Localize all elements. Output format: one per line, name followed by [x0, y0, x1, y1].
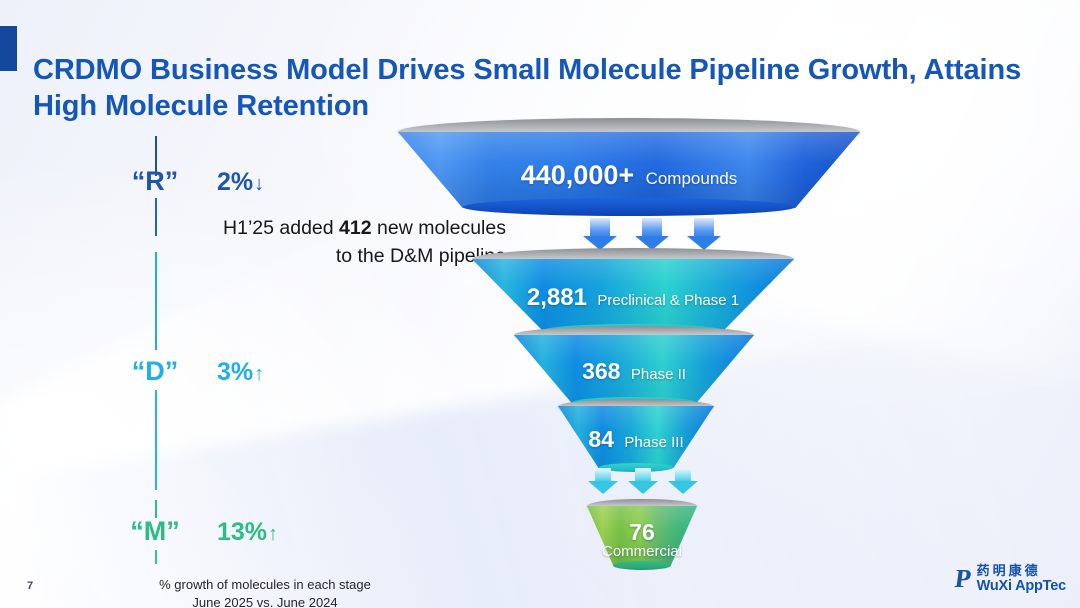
footnote-line2: June 2025 vs. June 2024 [90, 594, 440, 608]
arrow-down-icon [588, 468, 618, 494]
funnel-tier-5-base [613, 561, 670, 570]
page-number: 7 [27, 580, 33, 592]
wuxi-apptec-logo: P 药明康德 WuXi AppTec [955, 565, 1066, 594]
funnel-tier-phase2: 368 Phase II [514, 326, 754, 402]
slide-canvas: CRDMO Business Model Drives Small Molecu… [0, 0, 1080, 608]
funnel-tier-5-value-row: 76 [587, 519, 697, 546]
logo-english-name: WuXi AppTec [977, 579, 1066, 594]
funnel-tier-1-base [463, 198, 796, 216]
funnel-tier-5-caption: Commercial [602, 543, 682, 560]
funnel-tier-5-caption-row: Commercial [587, 543, 697, 561]
logo-mark-icon: P [953, 566, 973, 592]
funnel-tier-3-caption: Phase II [631, 366, 686, 383]
funnel-chart: 440,000+ Compounds [0, 0, 1080, 608]
funnel-tier-4-caption: Phase III [624, 434, 683, 451]
funnel-tier-1-value: 440,000+ [521, 160, 634, 190]
funnel-tier-2-label: 2,881 Preclinical & Phase 1 [472, 284, 794, 312]
arrow-down-icon [687, 218, 721, 250]
funnel-tier-compounds: 440,000+ Compounds [398, 118, 860, 208]
arrow-down-icon [628, 468, 658, 494]
funnel-tier-3-value: 368 [582, 358, 620, 384]
funnel-arrows-cyan [583, 468, 703, 494]
arrow-down-icon [583, 218, 617, 250]
funnel-tier-1-label: 440,000+ Compounds [398, 160, 860, 191]
logo-chinese-name: 药明康德 [977, 565, 1066, 579]
funnel-tier-3-label: 368 Phase II [514, 358, 754, 385]
logo-names: 药明康德 WuXi AppTec [977, 565, 1066, 594]
funnel-tier-4-label: 84 Phase III [558, 426, 714, 453]
arrow-down-icon [635, 218, 669, 250]
funnel-tier-phase3: 84 Phase III [558, 399, 714, 469]
funnel-tier-preclinical: 2,881 Preclinical & Phase 1 [472, 248, 794, 330]
footnote-line1: % growth of molecules in each stage [90, 576, 440, 594]
funnel-tier-2-caption: Preclinical & Phase 1 [597, 292, 739, 309]
funnel-tier-5-value: 76 [629, 519, 655, 545]
funnel-tier-4-value: 84 [588, 426, 614, 452]
footnote: % growth of molecules in each stage June… [90, 576, 440, 608]
arrow-down-icon [668, 468, 698, 494]
funnel-arrows-blue [574, 218, 730, 250]
funnel-tier-1-caption: Compounds [646, 169, 738, 188]
funnel-tier-commercial: 76 Commercial [587, 499, 697, 569]
funnel-tier-2-value: 2,881 [527, 284, 587, 311]
